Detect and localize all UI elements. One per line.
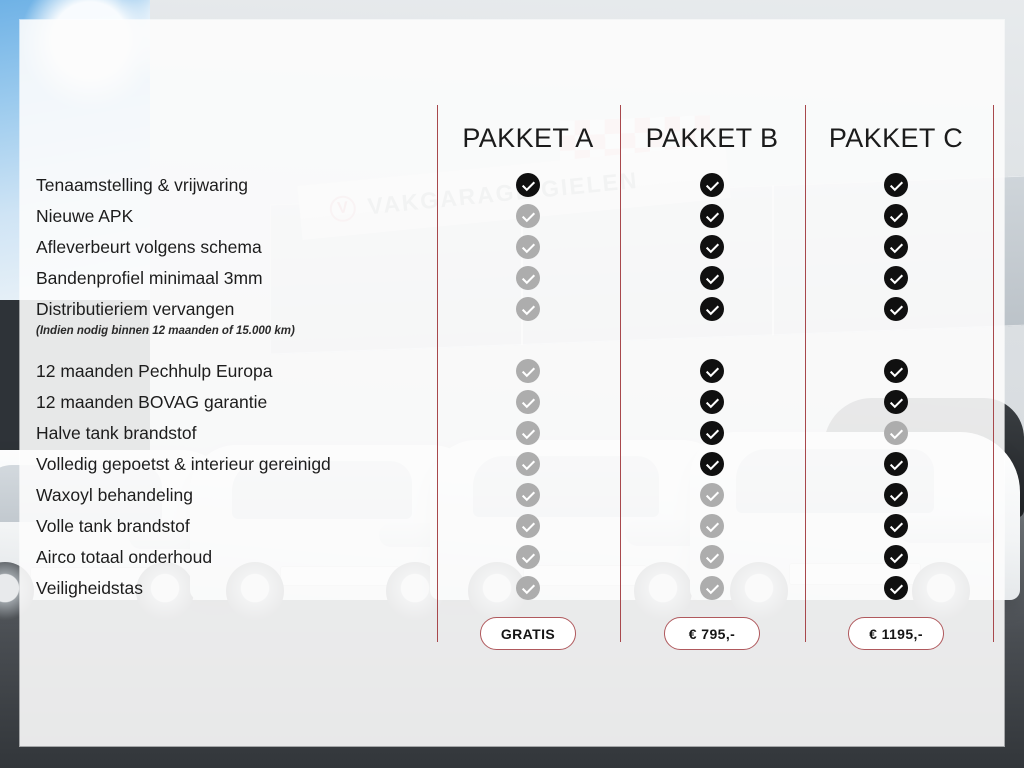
check-icon-a-group-2-3 xyxy=(516,421,540,445)
feature-label: Airco totaal onderhoud xyxy=(36,549,212,567)
check-icon-c-group-1-1 xyxy=(884,173,908,197)
check-icon-c-group-2-8 xyxy=(884,576,908,600)
check-icon-b-group-1-4 xyxy=(700,266,724,290)
column-divider-b xyxy=(620,105,621,642)
check-icon-a-group-1-5 xyxy=(516,297,540,321)
check-icon-b-group-1-3 xyxy=(700,235,724,259)
check-icon-b-group-2-8 xyxy=(700,576,724,600)
column-header-c: PAKKET C xyxy=(786,115,1006,161)
check-icon-a-group-1-4 xyxy=(516,266,540,290)
check-icon-a-group-1-1 xyxy=(516,173,540,197)
price-button-c[interactable]: € 1195,- xyxy=(848,617,944,650)
check-icon-a-group-2-7 xyxy=(516,545,540,569)
check-icon-a-group-2-4 xyxy=(516,452,540,476)
column-divider-a xyxy=(437,105,438,642)
check-icon-b-group-1-1 xyxy=(700,173,724,197)
check-icon-b-group-1-2 xyxy=(700,204,724,228)
check-icon-b-group-2-2 xyxy=(700,390,724,414)
feature-label: Distributieriem vervangen xyxy=(36,301,234,319)
check-icon-c-group-2-6 xyxy=(884,514,908,538)
feature-label: 12 maanden BOVAG garantie xyxy=(36,394,267,412)
check-icon-a-group-1-2 xyxy=(516,204,540,228)
check-icon-a-group-2-5 xyxy=(516,483,540,507)
check-icon-a-group-2-2 xyxy=(516,390,540,414)
feature-label: 12 maanden Pechhulp Europa xyxy=(36,363,272,381)
check-icon-c-group-2-5 xyxy=(884,483,908,507)
check-icon-b-group-2-5 xyxy=(700,483,724,507)
feature-label: Tenaamstelling & vrijwaring xyxy=(36,177,248,195)
feature-label: Afleverbeurt volgens schema xyxy=(36,239,262,257)
check-icon-b-group-2-7 xyxy=(700,545,724,569)
check-icon-c-group-2-4 xyxy=(884,452,908,476)
column-divider-c xyxy=(805,105,806,642)
package-comparison-table: PAKKET APAKKET BPAKKET CTenaamstelling &… xyxy=(20,20,1004,746)
price-button-a[interactable]: GRATIS xyxy=(480,617,576,650)
check-icon-b-group-2-6 xyxy=(700,514,724,538)
overlay-card: PAKKET APAKKET BPAKKET CTenaamstelling &… xyxy=(20,20,1004,746)
column-divider-right xyxy=(993,105,994,642)
check-icon-a-group-2-1 xyxy=(516,359,540,383)
check-icon-a-group-1-3 xyxy=(516,235,540,259)
feature-label: Bandenprofiel minimaal 3mm xyxy=(36,270,263,288)
check-icon-c-group-1-2 xyxy=(884,204,908,228)
check-icon-c-group-1-3 xyxy=(884,235,908,259)
feature-note: (Indien nodig binnen 12 maanden of 15.00… xyxy=(36,326,295,338)
check-icon-c-group-2-2 xyxy=(884,390,908,414)
feature-label: Waxoyl behandeling xyxy=(36,487,193,505)
feature-label: Volledig gepoetst & interieur gereinigd xyxy=(36,456,331,474)
feature-label: Veiligheidstas xyxy=(36,580,143,598)
feature-label: Nieuwe APK xyxy=(36,208,133,226)
check-icon-c-group-1-5 xyxy=(884,297,908,321)
check-icon-c-group-1-4 xyxy=(884,266,908,290)
check-icon-a-group-2-6 xyxy=(516,514,540,538)
check-icon-b-group-1-5 xyxy=(700,297,724,321)
check-icon-c-group-2-7 xyxy=(884,545,908,569)
check-icon-c-group-2-1 xyxy=(884,359,908,383)
check-icon-a-group-2-8 xyxy=(516,576,540,600)
feature-label: Halve tank brandstof xyxy=(36,425,197,443)
check-icon-c-group-2-3 xyxy=(884,421,908,445)
feature-label: Volle tank brandstof xyxy=(36,518,190,536)
check-icon-b-group-2-1 xyxy=(700,359,724,383)
price-button-b[interactable]: € 795,- xyxy=(664,617,760,650)
check-icon-b-group-2-3 xyxy=(700,421,724,445)
check-icon-b-group-2-4 xyxy=(700,452,724,476)
